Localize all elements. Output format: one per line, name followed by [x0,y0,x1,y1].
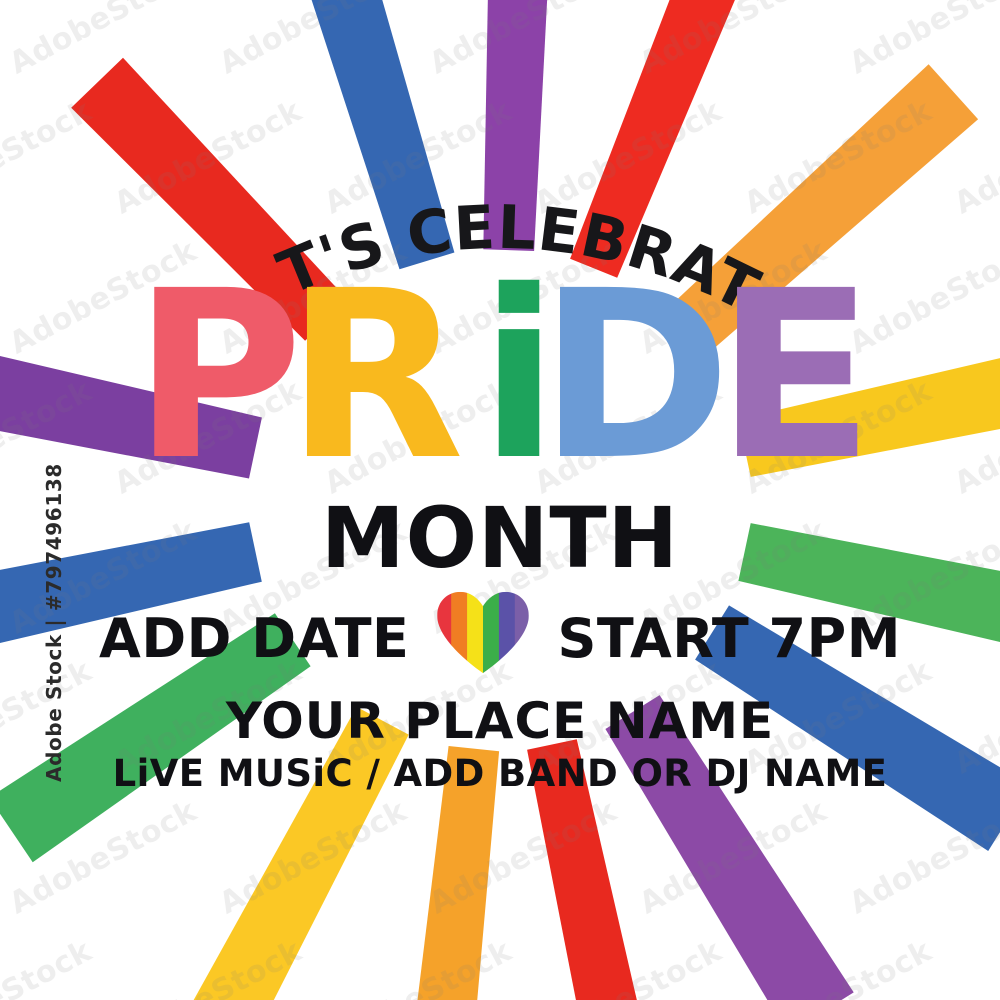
date-time-row: ADD DATE START 7PM [0,604,1000,674]
heart-stripe-5 [499,590,515,674]
pride-letter-p: P [133,268,303,493]
poster-content: LET'S CELEBRATE PRiDE MONTH ADD DATE STA… [0,0,1000,1000]
heart-stripe-1 [436,590,452,674]
date-label: ADD DATE [99,612,409,666]
music-line: LiVE MUSiC / ADD BAND OR DJ NAME [0,752,1000,795]
heart-stripes [436,590,532,674]
watermark-edge-label: Adobe Stock | #797496138 [42,482,66,782]
time-label: START 7PM [557,612,901,666]
pride-letter-d: D [539,268,732,493]
pride-letter-e: E [716,268,874,493]
pride-month-poster: AdobeStockAdobeStockAdobeStockAdobeStock… [0,0,1000,1000]
pride-wordmark: PRiDE [0,268,1000,493]
heart-stripe-6 [515,590,531,674]
month-line: MONTH [0,489,1000,587]
pride-letter-r: R [286,268,465,493]
heart-stripe-3 [468,590,484,674]
rainbow-heart-icon [435,590,531,674]
heart-stripe-4 [483,590,499,674]
heart-stripe-2 [452,590,468,674]
place-line: YOUR PLACE NAME [0,692,1000,750]
